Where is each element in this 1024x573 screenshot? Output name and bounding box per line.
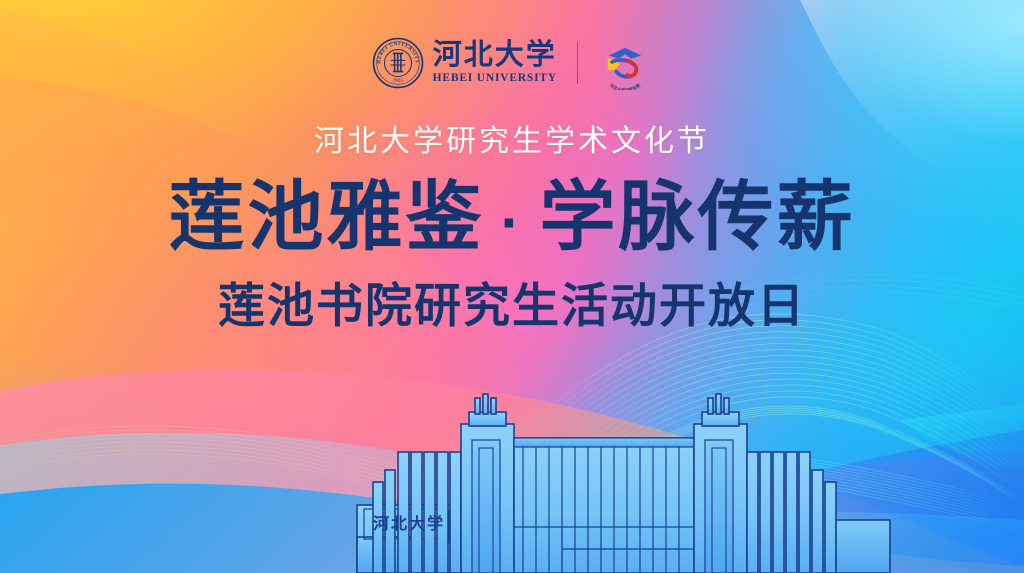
emblem-ring-text: 河北大学研究生院 — [609, 82, 641, 90]
wordmark-english: HEBEI UNIVERSITY — [433, 73, 557, 85]
seal-year-text: ·1921· — [391, 78, 405, 83]
svg-text:河北大学研究生院: 河北大学研究生院 — [609, 82, 641, 90]
university-wordmark: 河北大学 HEBEI UNIVERSITY — [433, 41, 557, 85]
main-title: 莲池雅鉴·学脉传薪 — [169, 178, 856, 259]
graduate-school-emblem-icon: 河北大学研究生院 — [598, 36, 652, 90]
poster-canvas: 河北大学 — [0, 0, 1024, 573]
wordmark-chinese: 河北大学 — [433, 41, 557, 70]
main-title-right: 学脉传薪 — [539, 175, 855, 260]
main-title-left: 莲池雅鉴 — [169, 175, 485, 260]
event-series-subtitle: 河北大学研究生学术文化节 — [314, 116, 710, 160]
university-seal-icon: HEBEI UNIVERSITY ·1921· — [372, 37, 424, 89]
university-logo-lockup: HEBEI UNIVERSITY ·1921· 河北大学 HEBEI UNIVE… — [372, 37, 557, 89]
event-name-subtitle: 莲池书院研究生活动开放日 — [218, 267, 806, 336]
logo-row: HEBEI UNIVERSITY ·1921· 河北大学 HEBEI UNIVE… — [372, 32, 653, 94]
main-title-separator: · — [485, 189, 540, 256]
logo-divider — [577, 42, 578, 84]
